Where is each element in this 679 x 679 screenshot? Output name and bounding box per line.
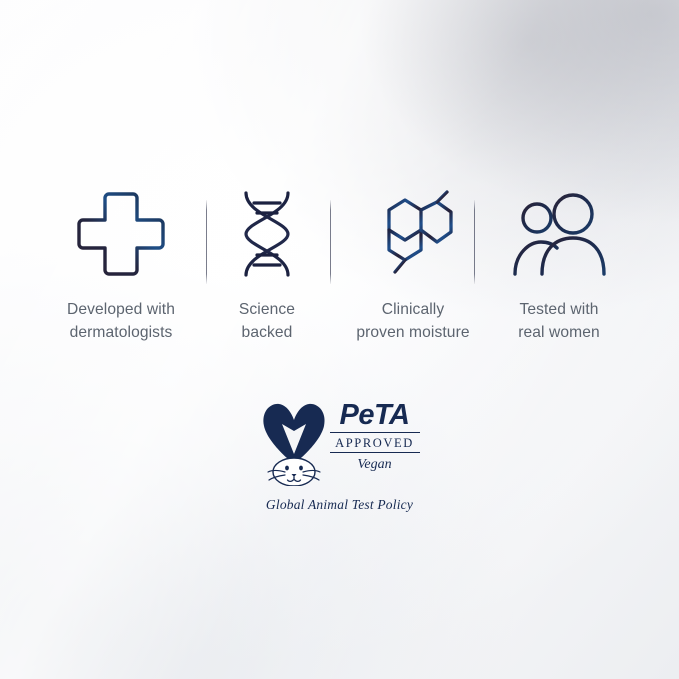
peta-approved-text: APPROVED bbox=[330, 436, 420, 450]
peta-wordmark: PeTA bbox=[330, 400, 420, 430]
dna-helix-icon bbox=[232, 186, 302, 282]
feature-list: Developed with dermatologists bbox=[48, 186, 632, 344]
product-claims-graphic: Developed with dermatologists bbox=[0, 0, 679, 679]
feature-caption: Tested with real women bbox=[518, 298, 600, 344]
peta-approved-badge: PeTA APPROVED Vegan Global Animal Test P… bbox=[0, 398, 679, 513]
feature-item-clinically-proven: Clinically proven moisture bbox=[340, 186, 486, 344]
peta-vegan-text: Vegan bbox=[330, 457, 420, 472]
peta-bunny-heart-icon bbox=[260, 398, 328, 491]
feature-item-dermatologists: Developed with dermatologists bbox=[48, 186, 194, 344]
two-people-icon bbox=[509, 186, 609, 282]
feature-caption: Clinically proven moisture bbox=[356, 298, 469, 344]
peta-rule-bottom bbox=[330, 452, 420, 453]
medical-cross-icon bbox=[73, 186, 169, 282]
peta-rule-top bbox=[330, 432, 420, 433]
peta-policy-text: Global Animal Test Policy bbox=[260, 497, 420, 513]
feature-caption: Developed with dermatologists bbox=[67, 298, 175, 344]
feature-item-tested-real-women: Tested with real women bbox=[486, 186, 632, 344]
molecule-hexagons-icon bbox=[363, 186, 463, 282]
feature-item-science-backed: Science backed bbox=[194, 186, 340, 344]
feature-caption: Science backed bbox=[239, 298, 295, 344]
